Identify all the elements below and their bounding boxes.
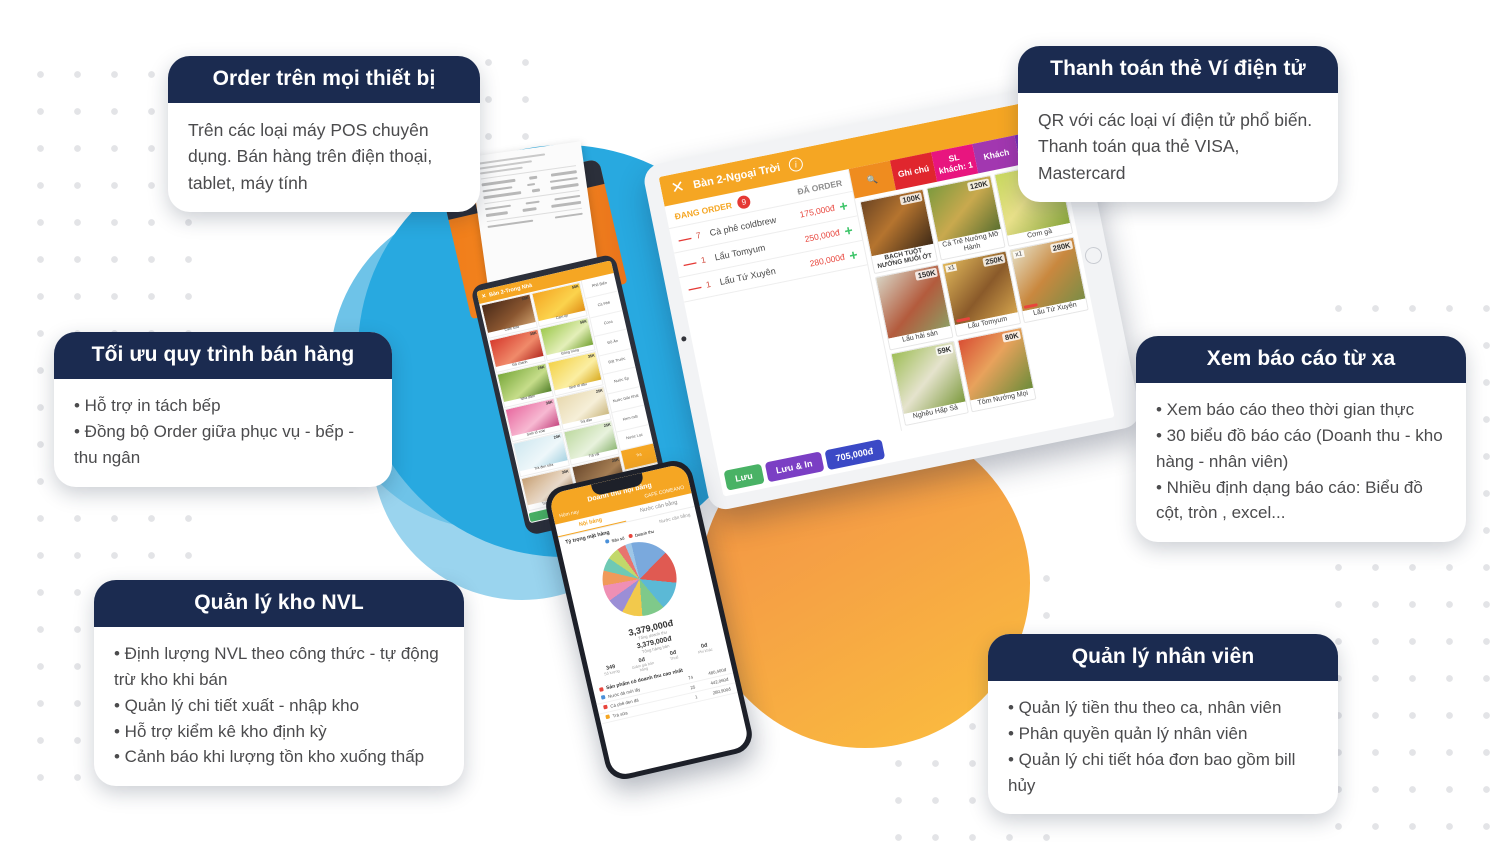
date-filter[interactable]: Hôm nay bbox=[559, 509, 580, 519]
tablet-camera bbox=[681, 336, 687, 342]
info-icon[interactable]: i bbox=[788, 156, 805, 173]
feature-card-process: Tối ưu quy trình bán hàng • Hỗ trợ in tá… bbox=[54, 332, 392, 487]
card-bullet: • Quản lý chi tiết hóa đơn bao gồm bill … bbox=[1008, 747, 1318, 799]
card-title: Thanh toán thẻ Ví điện tử bbox=[1018, 46, 1338, 93]
card-bullet: • Phân quyền quản lý nhân viên bbox=[1008, 721, 1318, 747]
card-title: Tối ưu quy trình bán hàng bbox=[54, 332, 392, 379]
card-bullet: • Cảnh báo khi lượng tồn kho xuống thấp bbox=[114, 744, 444, 770]
card-text: QR với các loại ví điện tử phổ biến. Tha… bbox=[1038, 107, 1318, 186]
card-title: Quản lý nhân viên bbox=[988, 634, 1338, 681]
decrease-icon[interactable]: — bbox=[687, 279, 702, 294]
card-bullet: • Hỗ trợ in tách bếp bbox=[74, 393, 372, 419]
menu-item-cell[interactable]: 120KCá Trê Nướng Mỡ Hành bbox=[926, 175, 1005, 261]
product-qty: 1 bbox=[681, 694, 698, 702]
menu-item-cell[interactable]: 250Kx1Lẩu Tomyum bbox=[942, 251, 1021, 337]
pie-chart bbox=[595, 534, 684, 623]
card-bullet: • Đồng bộ Order giữa phục vụ - bếp - thu… bbox=[74, 419, 372, 471]
product-qty: 74 bbox=[677, 674, 694, 682]
list-icon bbox=[599, 687, 604, 692]
close-icon[interactable]: ✕ bbox=[670, 179, 686, 197]
decrease-icon[interactable]: — bbox=[682, 255, 697, 270]
tab-da-order[interactable]: ĐÃ ORDER bbox=[796, 177, 842, 196]
pos-close-icon[interactable]: ✕ bbox=[481, 293, 487, 300]
item-price: 175,000đ bbox=[799, 203, 836, 220]
feature-card-report: Xem báo cáo từ xa • Xem báo cáo theo thờ… bbox=[1136, 336, 1466, 542]
card-bullet: • Định lượng NVL theo công thức - tự độn… bbox=[114, 641, 444, 693]
menu-item-cell[interactable]: 59KNghêu Hấp Sả bbox=[890, 340, 969, 426]
product-qty: 25 bbox=[679, 684, 696, 692]
order-count-badge: 9 bbox=[736, 194, 751, 209]
feature-card-order: Order trên mọi thiết bị Trên các loại má… bbox=[168, 56, 480, 212]
item-price: 250,000đ bbox=[804, 227, 841, 244]
increase-icon[interactable]: + bbox=[848, 247, 859, 262]
card-bullet: • 30 biểu đồ báo cáo (Doanh thu - kho hà… bbox=[1156, 423, 1446, 475]
feature-card-stock: Quản lý kho NVL • Định lượng NVL theo cô… bbox=[94, 580, 464, 786]
menu-item-cell[interactable]: 150KLẩu hải sản bbox=[874, 264, 953, 350]
save-button[interactable]: Lưu bbox=[724, 464, 765, 491]
total-amount-button[interactable]: 705,000đ bbox=[824, 439, 885, 470]
menu-item-cell[interactable]: 280Kx1Lẩu Tứ Xuyên bbox=[1009, 237, 1088, 323]
tablet-home-button[interactable] bbox=[1083, 245, 1103, 265]
menu-item-cell[interactable]: 100KBẠCH TUỘT NƯỚNG MUỐI ỚT bbox=[859, 189, 938, 275]
card-bullet: • Hỗ trợ kiểm kê kho định kỳ bbox=[114, 719, 444, 745]
card-bullet: • Nhiều định dạng báo cáo: Biểu đồ cột, … bbox=[1156, 475, 1446, 527]
increase-icon[interactable]: + bbox=[843, 223, 854, 238]
feature-card-payment: Thanh toán thẻ Ví điện tử QR với các loạ… bbox=[1018, 46, 1338, 202]
save-print-button[interactable]: Lưu & In bbox=[764, 451, 824, 482]
decrease-icon[interactable]: — bbox=[677, 230, 692, 245]
menu-item-cell[interactable]: 80KTôm Nướng Mọi bbox=[957, 326, 1036, 412]
card-title: Order trên mọi thiết bị bbox=[168, 56, 480, 103]
item-qty: 1 bbox=[705, 278, 716, 290]
item-qty: 1 bbox=[700, 254, 711, 266]
card-bullet: • Quản lý chi tiết xuất - nhập kho bbox=[114, 693, 444, 719]
card-text: Trên các loại máy POS chuyên dụng. Bán h… bbox=[188, 117, 460, 196]
item-price: 280,000đ bbox=[809, 252, 846, 269]
phone-screen: Doanh thu nội bảng Hôm nay CAFE COMEANO … bbox=[548, 463, 750, 777]
feature-card-staff: Quản lý nhân viên • Quản lý tiền thu the… bbox=[988, 634, 1338, 814]
card-title: Quản lý kho NVL bbox=[94, 580, 464, 627]
card-bullet: • Quản lý tiền thu theo ca, nhân viên bbox=[1008, 695, 1318, 721]
increase-icon[interactable]: + bbox=[838, 198, 849, 213]
infographic-canvas: ✕ Bàn 2-Trong Nhà 50KCafe sữa50KCam ép30… bbox=[0, 0, 1500, 844]
card-bullet: • Xem báo cáo theo thời gian thực bbox=[1156, 397, 1446, 423]
card-title: Xem báo cáo từ xa bbox=[1136, 336, 1466, 383]
item-qty: 7 bbox=[695, 229, 706, 241]
